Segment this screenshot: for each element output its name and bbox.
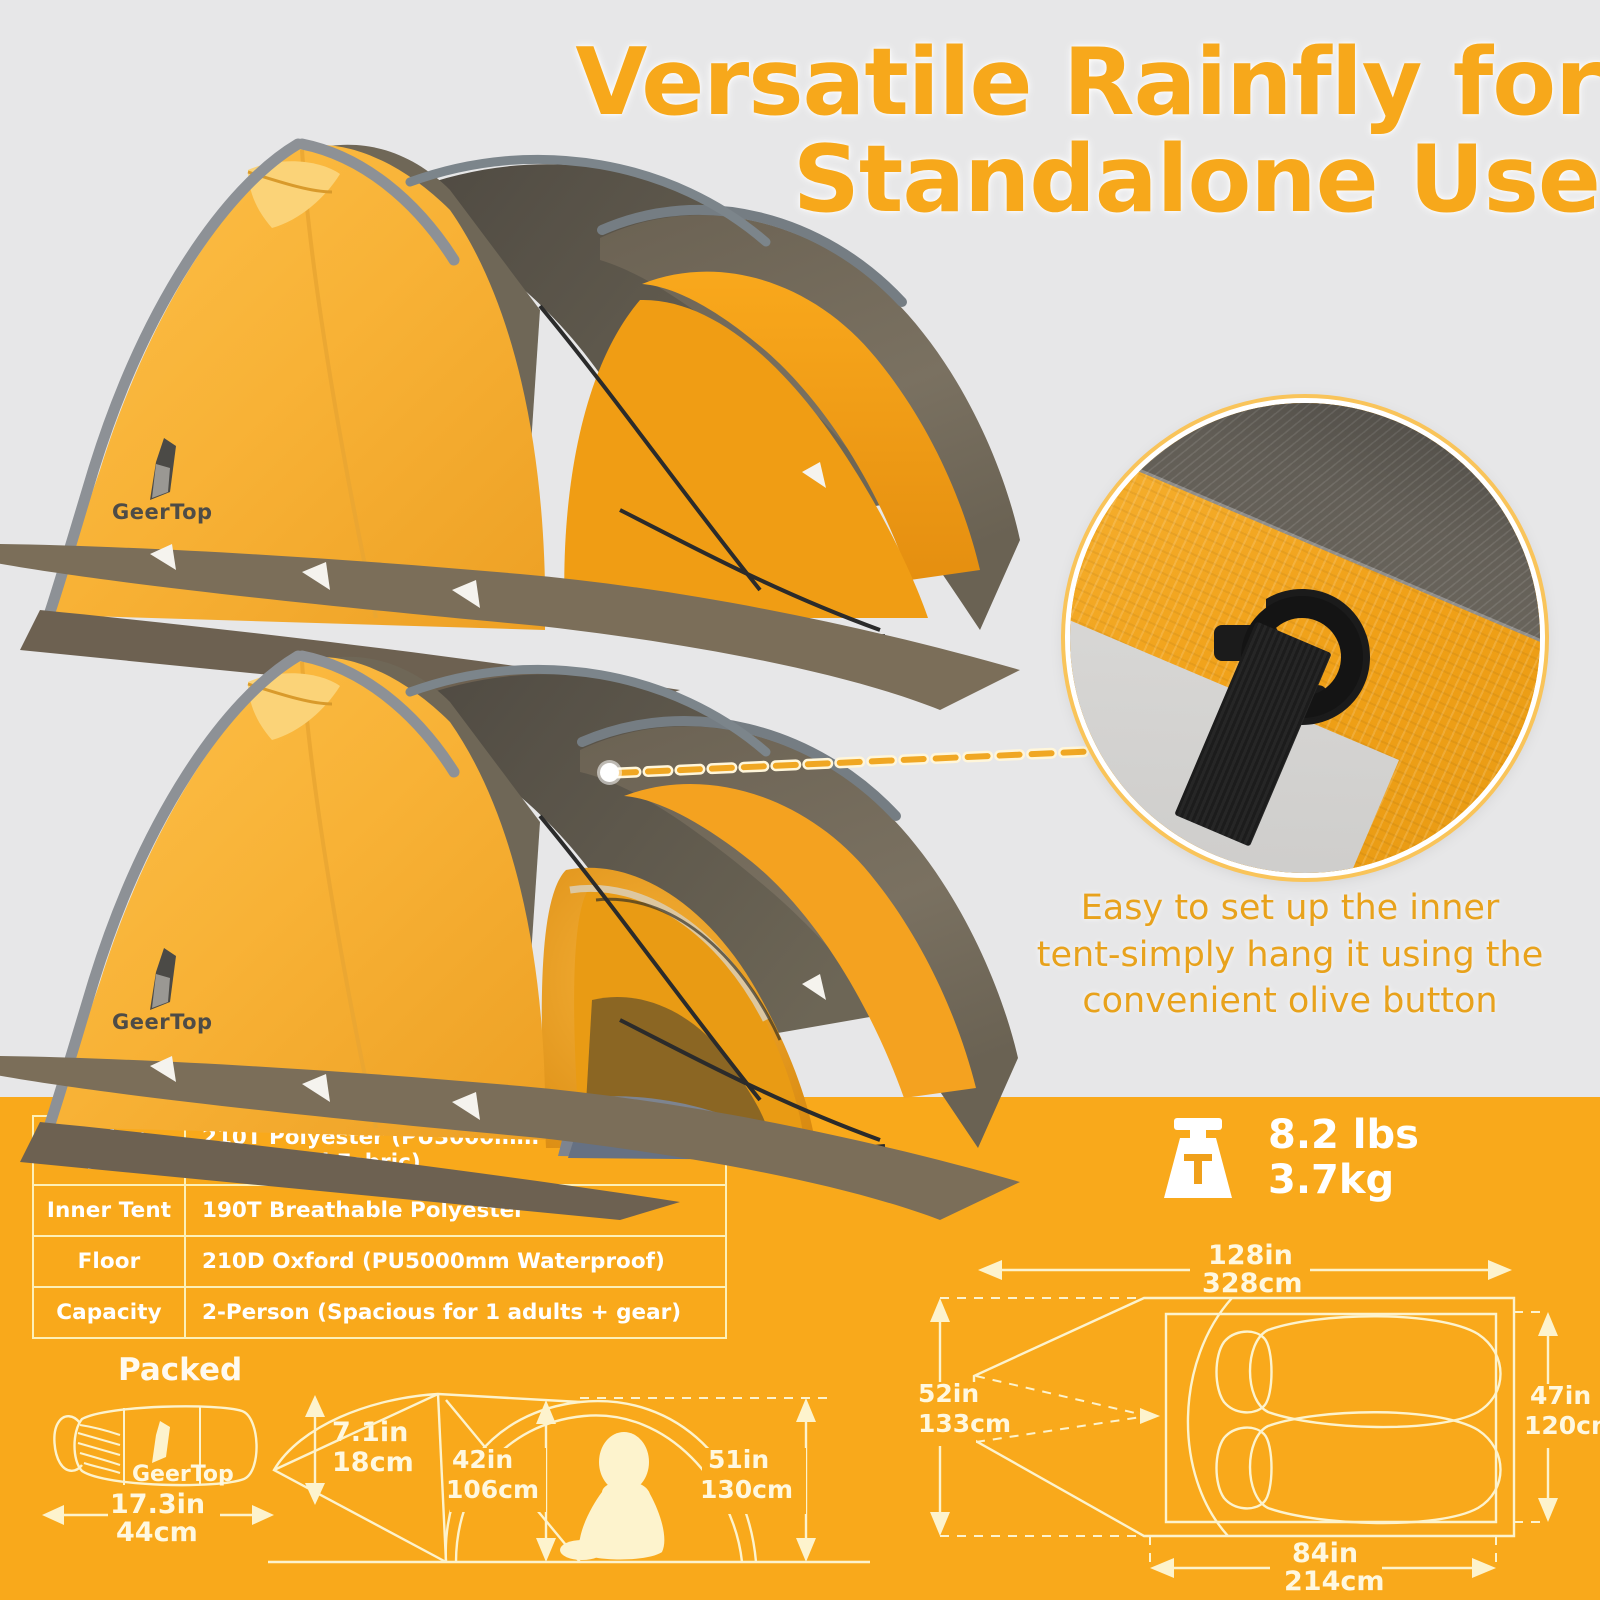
floor-inner-length-cm: 214cm bbox=[1284, 1566, 1385, 1597]
floor-inner-width-cm: 120cm bbox=[1524, 1411, 1600, 1440]
side-peak-height-in: 51in bbox=[708, 1445, 769, 1474]
spec-key-capacity: Capacity bbox=[33, 1287, 185, 1338]
tent-image-with-inner-tent bbox=[0, 600, 1040, 1220]
infographic-page: Versatile Rainfly for Standalone Use bbox=[0, 0, 1600, 1600]
floor-total-length-cm: 328cm bbox=[1202, 1268, 1303, 1299]
weight-scale-icon bbox=[1150, 1110, 1246, 1206]
callout-connector-line bbox=[600, 735, 1100, 805]
packed-length-cm: 44cm bbox=[116, 1517, 198, 1548]
weight-metric: 3.7kg bbox=[1268, 1158, 1419, 1203]
spec-value-floor: 210D Oxford (PU5000mm Waterproof) bbox=[185, 1236, 726, 1287]
weight-imperial: 8.2 lbs bbox=[1268, 1113, 1419, 1158]
side-view-diagram: 42in 106cm 51in 130cm bbox=[250, 1340, 910, 1590]
svg-text:GeerTop: GeerTop bbox=[132, 1462, 234, 1487]
tent-brand-text-b: GeerTop bbox=[112, 1010, 213, 1034]
table-row: Capacity 2-Person (Spacious for 1 adults… bbox=[33, 1287, 726, 1338]
caption-line-3: convenient olive button bbox=[1010, 978, 1570, 1025]
spec-value-capacity: 2-Person (Spacious for 1 adults + gear) bbox=[185, 1287, 726, 1338]
caption-line-2: tent-simply hang it using the bbox=[1010, 932, 1570, 979]
connector-origin-dot bbox=[600, 763, 619, 782]
callout-caption: Easy to set up the inner tent-simply han… bbox=[1010, 885, 1570, 1025]
floor-inner-length-in: 84in bbox=[1292, 1538, 1358, 1569]
side-inner-height-in: 42in bbox=[452, 1445, 513, 1474]
caption-line-1: Easy to set up the inner bbox=[1010, 885, 1570, 932]
floor-inner-width-in: 47in bbox=[1530, 1381, 1591, 1410]
olive-button-callout bbox=[1065, 398, 1545, 878]
side-peak-height-cm: 130cm bbox=[700, 1475, 793, 1504]
floor-total-width-cm: 133cm bbox=[918, 1409, 1011, 1438]
weight-block: 8.2 lbs 3.7kg bbox=[1150, 1110, 1419, 1206]
spec-key-floor: Floor bbox=[33, 1236, 185, 1287]
table-row: Floor 210D Oxford (PU5000mm Waterproof) bbox=[33, 1236, 726, 1287]
seated-person-silhouette bbox=[560, 1432, 664, 1560]
packed-length-in: 17.3in bbox=[110, 1489, 205, 1520]
floor-total-length-in: 128in bbox=[1208, 1240, 1293, 1271]
tent-brand-text-a: GeerTop bbox=[112, 500, 213, 524]
side-inner-height-cm: 106cm bbox=[446, 1475, 539, 1504]
floor-plan-diagram: 128in 328cm bbox=[918, 1230, 1583, 1590]
floor-total-width-in: 52in bbox=[918, 1379, 979, 1408]
